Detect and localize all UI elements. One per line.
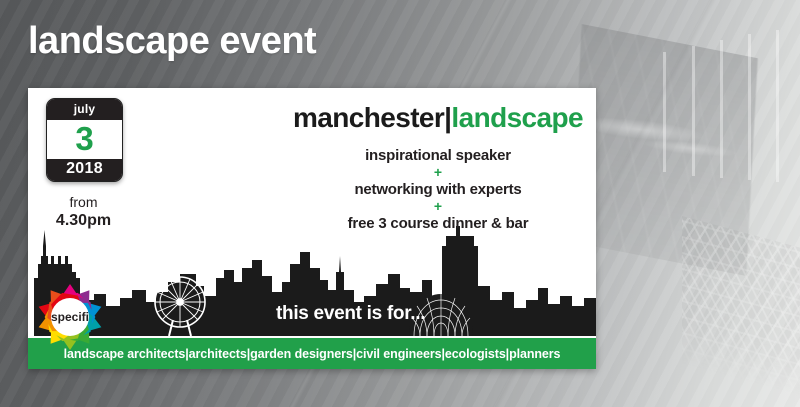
brand-topic: landscape xyxy=(451,102,583,133)
event-highlights: inspirational speaker + networking with … xyxy=(280,146,596,233)
screenshot-root: landscape event xyxy=(0,0,800,407)
event-time-value: 4.30pm xyxy=(46,211,121,230)
specifi-logo: specifi xyxy=(36,283,104,351)
calendar-day: 3 xyxy=(47,120,122,159)
brand-city: manchester| xyxy=(293,102,451,133)
audience-list: landscape architects|architects|garden d… xyxy=(64,347,561,361)
plus-separator: + xyxy=(280,165,596,180)
calendar-year: 2018 xyxy=(47,159,122,181)
logo-text: specifi xyxy=(51,310,89,324)
highlight-item: networking with experts xyxy=(280,180,596,199)
highlight-item: inspirational speaker xyxy=(280,146,596,165)
audience-bar: landscape architects|architects|garden d… xyxy=(28,338,596,369)
event-flyer-card: july 3 2018 from 4.30pm manchester|lands… xyxy=(28,88,596,369)
highlight-item: free 3 course dinner & bar xyxy=(280,214,596,233)
event-for-label: this event is for... xyxy=(276,303,425,325)
page-title: landscape event xyxy=(28,20,316,63)
event-time-prefix: from xyxy=(46,194,121,211)
calendar-month: july xyxy=(47,99,122,120)
event-date-block: july 3 2018 from 4.30pm xyxy=(46,98,130,230)
event-brand-wordmark: manchester|landscape xyxy=(280,102,596,134)
plus-separator: + xyxy=(280,199,596,214)
calendar-icon: july 3 2018 xyxy=(46,98,123,182)
